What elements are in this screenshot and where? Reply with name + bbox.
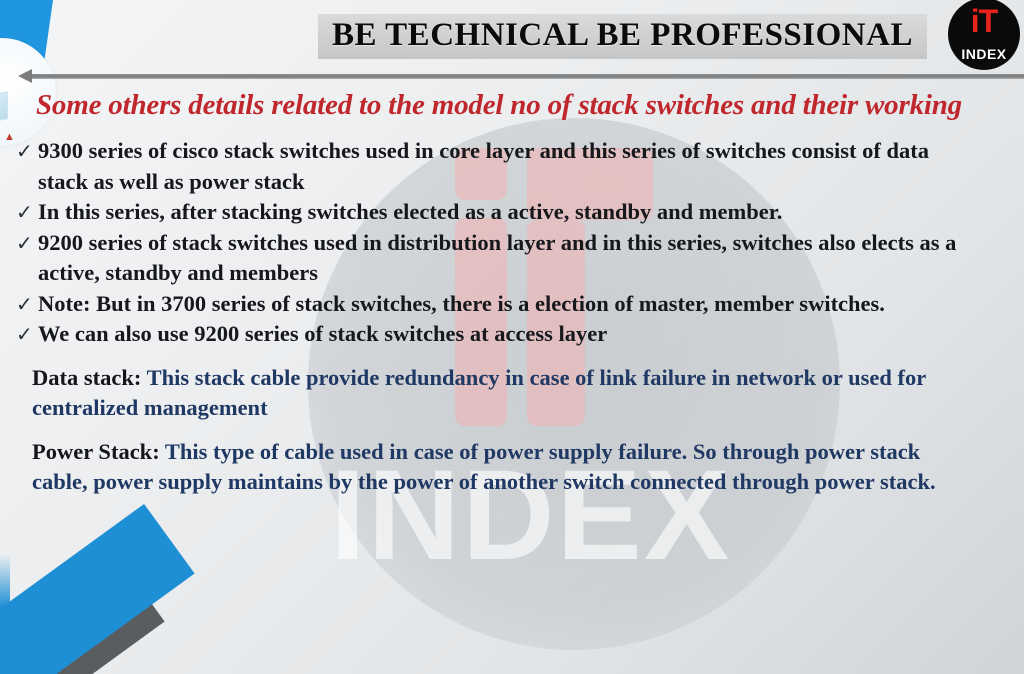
brand-logo: iT INDEX — [948, 0, 1020, 70]
list-item-text: We can also use 9200 series of stack swi… — [38, 321, 607, 346]
definition-paragraph-data-stack: Data stack: This stack cable provide red… — [32, 363, 962, 424]
bullet-list: ✓ 9300 series of cisco stack switches us… — [0, 136, 1024, 350]
list-item-text: In this series, after stacking switches … — [38, 199, 782, 224]
check-icon: ✓ — [16, 289, 33, 319]
slide-title-banner: BE TECHNICAL BE PROFESSIONAL — [318, 14, 927, 59]
list-item: ✓ 9300 series of cisco stack switches us… — [14, 136, 964, 197]
list-item-text: Note: But in 3700 series of stack switch… — [38, 291, 885, 316]
logo-index-text: INDEX — [948, 47, 1020, 61]
page-title: BE TECHNICAL BE PROFESSIONAL — [332, 17, 913, 54]
definition-paragraph-power-stack: Power Stack: This type of cable used in … — [32, 437, 962, 498]
check-icon: ✓ — [16, 136, 33, 166]
presentation-slide: ▲ INDEX BE TECHNICAL BE PROFESSIONAL iT … — [0, 0, 1024, 674]
definition-label: Power Stack: — [32, 439, 160, 464]
check-icon: ✓ — [16, 197, 33, 227]
list-item: ✓ Note: But in 3700 series of stack swit… — [14, 289, 964, 320]
header-divider — [30, 74, 1024, 79]
list-item: ✓ 9200 series of stack switches used in … — [14, 228, 964, 289]
definition-text: This stack cable provide redundancy in c… — [32, 365, 926, 421]
definition-text: This type of cable used in case of power… — [32, 439, 936, 495]
logo-it-text: iT — [948, 3, 1020, 39]
check-icon: ✓ — [16, 319, 33, 349]
slide-heading: Some others details related to the model… — [36, 86, 1000, 124]
definition-label: Data stack: — [32, 365, 141, 390]
list-item-text: 9200 series of stack switches used in di… — [38, 230, 956, 286]
list-item: ✓ We can also use 9200 series of stack s… — [14, 319, 964, 350]
list-item: ✓ In this series, after stacking switche… — [14, 197, 964, 228]
left-edge-blue-accent — [0, 554, 10, 674]
header-arrow-icon — [18, 69, 32, 83]
list-item-text: 9300 series of cisco stack switches used… — [38, 138, 929, 194]
slide-content: Some others details related to the model… — [0, 86, 1024, 498]
check-icon: ✓ — [16, 228, 33, 258]
